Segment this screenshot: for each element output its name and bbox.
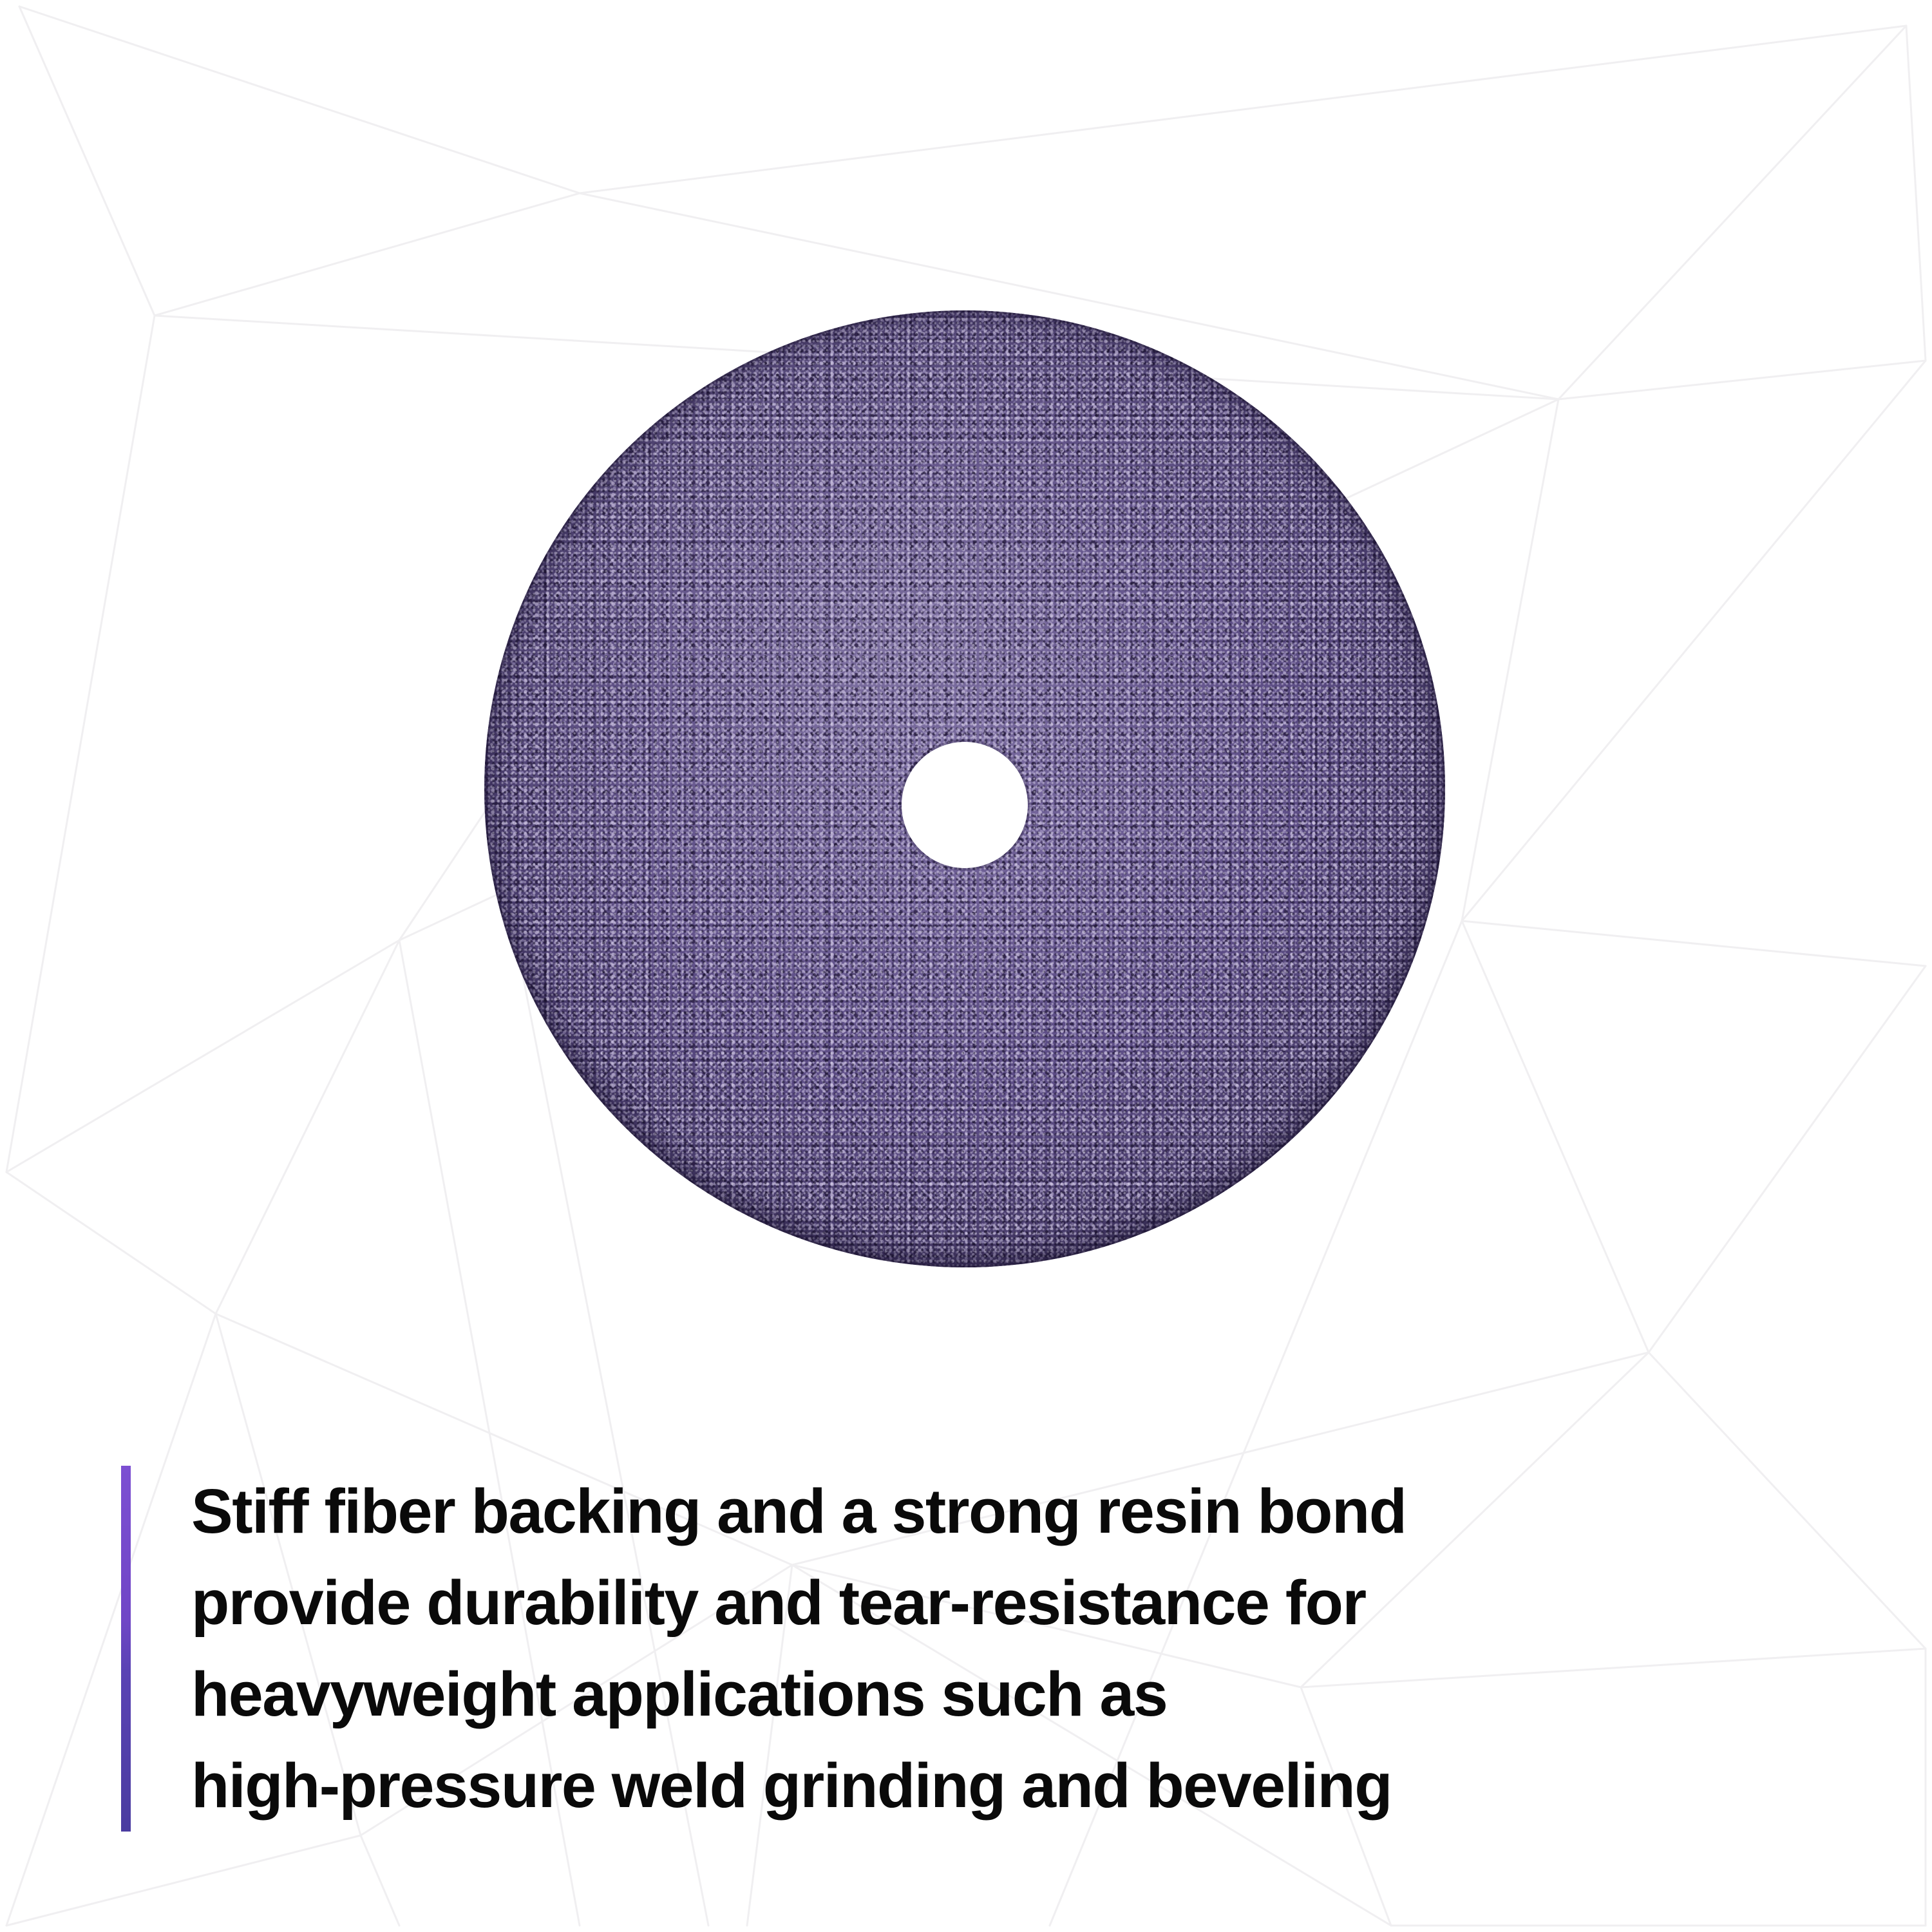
mesh-line	[580, 26, 1906, 193]
mesh-line	[1462, 921, 1649, 1352]
mesh-line	[19, 6, 580, 193]
disc-wrap	[484, 310, 1445, 1267]
mesh-line	[1649, 966, 1926, 1352]
mesh-line	[361, 1835, 399, 1926]
mesh-line	[6, 1172, 216, 1314]
caption-block: Stiff fiber backing and a strong resin b…	[121, 1466, 1795, 1832]
mesh-line	[1906, 26, 1926, 361]
mesh-line	[1462, 399, 1558, 921]
caption-text: Stiff fiber backing and a strong resin b…	[191, 1466, 1406, 1832]
mesh-line	[6, 316, 155, 1172]
fiber-disc-product-image	[484, 310, 1445, 1267]
mesh-line	[1558, 361, 1926, 399]
disc-center-hole	[902, 742, 1028, 868]
mesh-line	[6, 1835, 361, 1926]
mesh-line	[1462, 921, 1926, 966]
accent-bar	[121, 1466, 131, 1832]
mesh-line	[6, 940, 399, 1172]
mesh-line	[1462, 361, 1926, 921]
mesh-line	[155, 193, 580, 316]
product-feature-card: Stiff fiber backing and a strong resin b…	[0, 0, 1932, 1932]
mesh-line	[19, 6, 155, 316]
mesh-line	[216, 940, 399, 1314]
mesh-line	[1558, 26, 1906, 399]
mesh-line	[399, 805, 489, 940]
